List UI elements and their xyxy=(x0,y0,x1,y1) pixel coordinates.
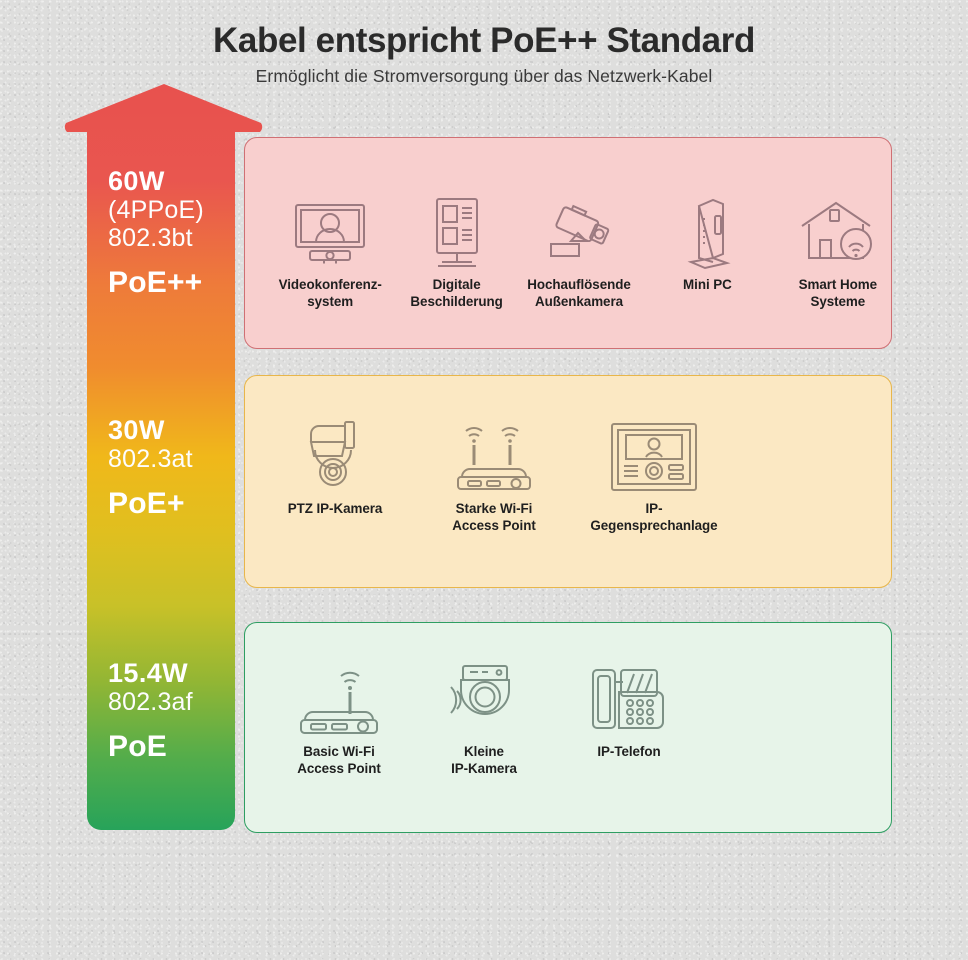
device-label-line2: Systeme xyxy=(785,293,891,310)
device-item-outdoor-camera: Hochauflösende Außenkamera xyxy=(526,190,632,310)
tier-standard-name: PoE xyxy=(108,730,193,763)
tier-sub-line1: 802.3af xyxy=(108,688,193,716)
device-label: Mini PC xyxy=(654,276,760,293)
ptz-camera-icon xyxy=(277,414,393,500)
ip-phone-icon xyxy=(569,657,689,743)
device-label-line2: Access Point xyxy=(429,517,559,534)
device-item-basic-wifi-ap: Basic Wi-Fi Access Point xyxy=(277,657,401,777)
tier-sub-line2: 802.3bt xyxy=(108,224,204,252)
digital-signage-icon xyxy=(403,190,509,276)
tier-watt-value: 30W xyxy=(108,415,193,445)
device-item-strong-wifi-ap: Starke Wi-Fi Access Point xyxy=(429,414,559,534)
tier-panel-poe-plus: PTZ IP-Kamera xyxy=(244,375,892,588)
device-item-digital-signage: Digitale Beschilderung xyxy=(403,190,509,310)
basic-wifi-access-point-icon xyxy=(277,657,401,743)
tier-watt-value: 60W xyxy=(108,166,204,196)
device-item-ip-intercom: IP- Gegensprechanlage xyxy=(579,414,729,534)
tier-label-poe: 15.4W 802.3af PoE xyxy=(108,658,193,763)
device-label-line2: system xyxy=(277,293,383,310)
device-label: Hochauflösende xyxy=(526,276,632,293)
device-item-small-dome-camera: Kleine IP-Kamera xyxy=(421,657,547,777)
poe-standard-infographic: Kabel entspricht PoE++ Standard Ermöglic… xyxy=(0,0,968,960)
small-dome-camera-icon xyxy=(421,657,547,743)
tier-sub-line1: (4PPoE) xyxy=(108,196,204,224)
device-label: IP-Telefon xyxy=(569,743,689,760)
ip-intercom-icon xyxy=(579,414,729,500)
device-item-video-conference-system: Videokonferenz- system xyxy=(277,190,383,310)
device-label-line2: Außenkamera xyxy=(526,293,632,310)
device-label-line2: IP-Kamera xyxy=(421,760,547,777)
tier-panel-poe-plus-plus: Videokonferenz- system Digitale xyxy=(244,137,892,349)
tier-label-poe-plus: 30W 802.3at PoE+ xyxy=(108,415,193,520)
tier-watt-value: 15.4W xyxy=(108,658,193,688)
device-label: Smart Home xyxy=(785,276,891,293)
device-label: Digitale xyxy=(403,276,509,293)
device-label: IP- xyxy=(579,500,729,517)
device-item-smart-home: Smart Home Systeme xyxy=(785,190,891,310)
device-label: Basic Wi-Fi xyxy=(277,743,401,760)
tier-label-poe-plus-plus: 60W (4PPoE) 802.3bt PoE++ xyxy=(108,166,204,299)
header: Kabel entspricht PoE++ Standard Ermöglic… xyxy=(0,22,968,86)
device-label: PTZ IP-Kamera xyxy=(277,500,393,517)
page-title: Kabel entspricht PoE++ Standard xyxy=(0,22,968,61)
mini-pc-icon xyxy=(654,190,760,276)
strong-wifi-access-point-icon xyxy=(429,414,559,500)
outdoor-bullet-camera-icon xyxy=(526,190,632,276)
device-item-ip-phone: IP-Telefon xyxy=(569,657,689,760)
device-label-line2: Gegensprechanlage xyxy=(579,517,729,534)
device-label: Kleine xyxy=(421,743,547,760)
tier-sub-line1: 802.3at xyxy=(108,445,193,473)
tier-panel-poe: Basic Wi-Fi Access Point xyxy=(244,622,892,833)
device-item-mini-pc: Mini PC xyxy=(654,190,760,293)
device-item-ptz-camera: PTZ IP-Kamera xyxy=(277,414,393,517)
smart-home-icon xyxy=(785,190,891,276)
video-conference-system-icon xyxy=(277,190,383,276)
tier-standard-name: PoE+ xyxy=(108,487,193,520)
device-label: Starke Wi-Fi xyxy=(429,500,559,517)
device-label-line2: Access Point xyxy=(277,760,401,777)
device-label: Videokonferenz- xyxy=(277,276,383,293)
device-label-line2: Beschilderung xyxy=(403,293,509,310)
tier-standard-name: PoE++ xyxy=(108,266,204,299)
